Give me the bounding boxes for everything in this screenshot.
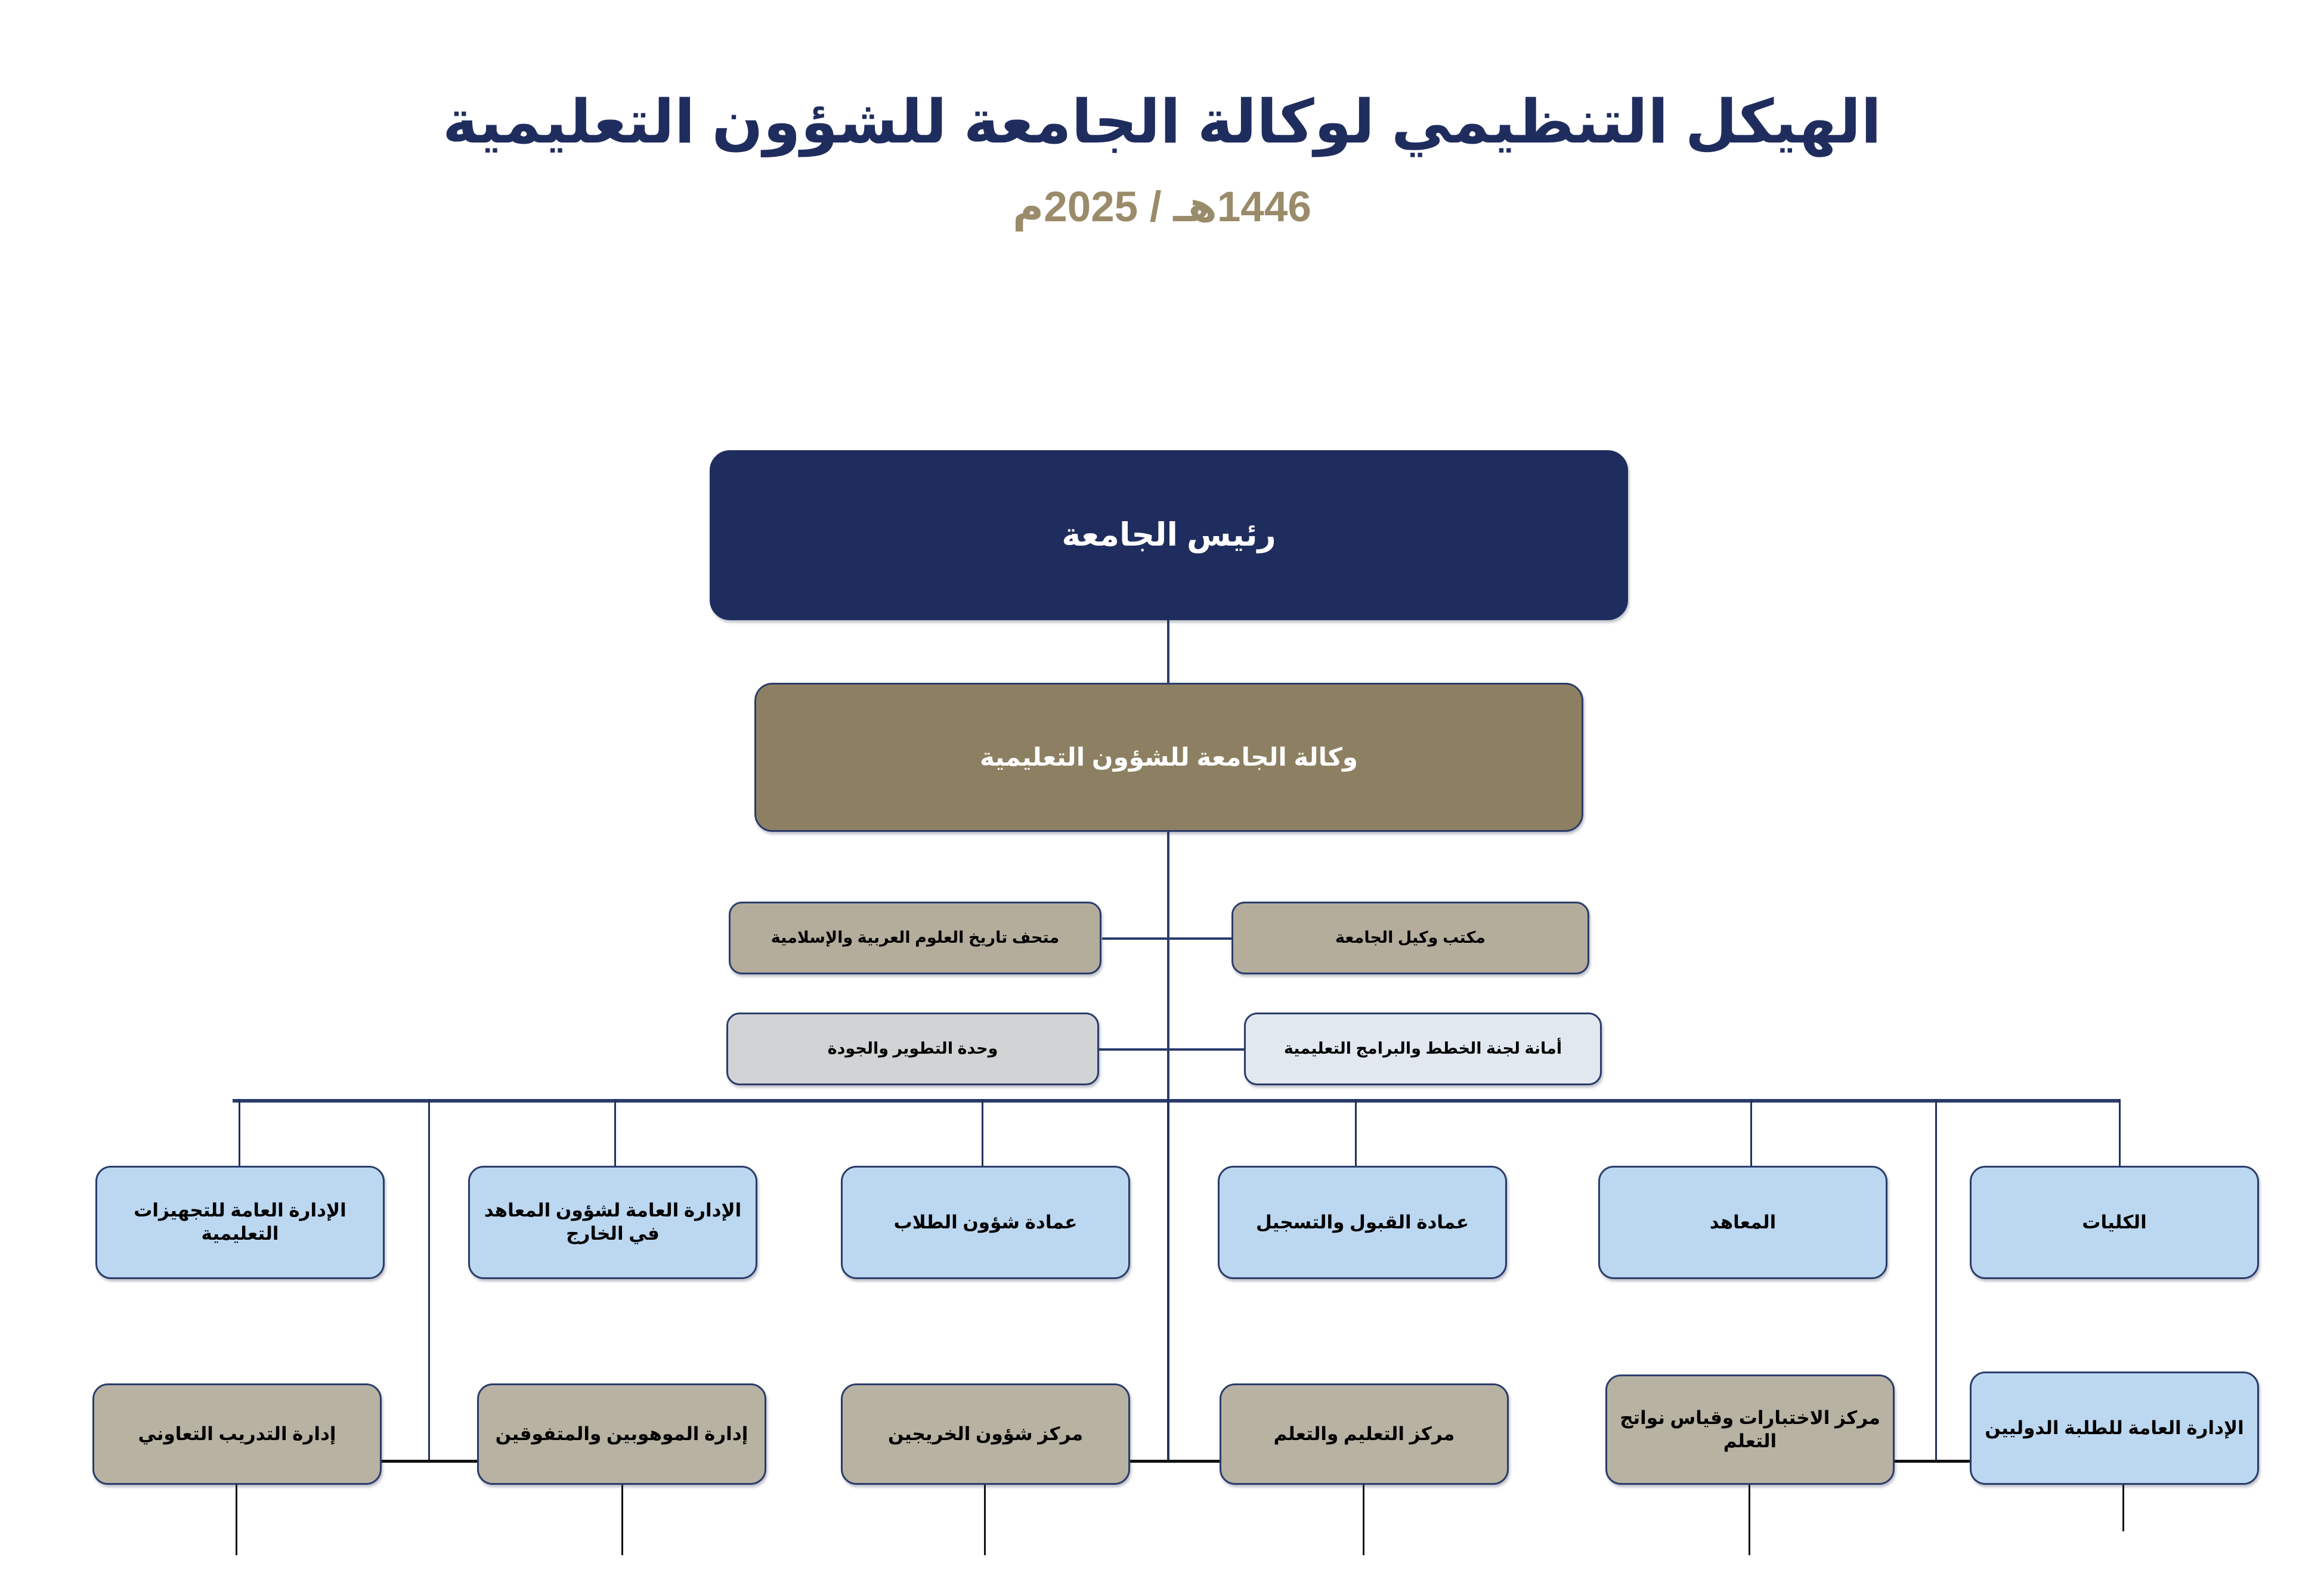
node-development-quality-unit[interactable]: وحدة التطوير والجودة	[726, 1013, 1099, 1085]
node-label: عمادة شؤون الطلاب	[894, 1211, 1078, 1234]
node-label: الكليات	[2082, 1211, 2146, 1234]
node-teaching-learning-center[interactable]: مركز التعليم والتعلم	[1220, 1383, 1509, 1485]
node-label: أمانة لجنة الخطط والبرامج التعليمية	[1284, 1039, 1562, 1059]
node-label: رئيس الجامعة	[1062, 515, 1276, 556]
org-chart-canvas: رئيس الجامعة وكالة الجامعة للشؤون التعلي…	[0, 0, 2324, 1582]
connector-agency-spine	[1167, 832, 1169, 1100]
node-label: مركز الاختبارات وقياس نواتج التعلم	[1616, 1407, 1884, 1453]
node-gifted-talented-administration[interactable]: إدارة الموهوبين والمتفوقين	[477, 1383, 766, 1485]
node-science-history-museum[interactable]: متحف تاريخ العلوم العربية والإسلامية	[729, 902, 1101, 974]
node-label: مركز التعليم والتعلم	[1274, 1423, 1455, 1446]
node-colleges[interactable]: الكليات	[1970, 1166, 2259, 1279]
node-label: عمادة القبول والتسجيل	[1256, 1211, 1469, 1234]
node-label: إدارة الموهوبين والمتفوقين	[496, 1423, 748, 1446]
node-student-affairs-deanship[interactable]: عمادة شؤون الطلاب	[841, 1166, 1130, 1279]
node-label: إدارة التدريب التعاوني	[138, 1423, 336, 1446]
node-overseas-institutes-administration[interactable]: الإدارة العامة لشؤون المعاهد في الخارج	[468, 1166, 757, 1279]
node-label: وحدة التطوير والجودة	[828, 1039, 998, 1059]
connector-drop-branch-center	[1167, 1099, 1169, 1461]
node-label: المعاهد	[1710, 1211, 1777, 1234]
connector-department-bar	[233, 1099, 2120, 1103]
node-international-students-administration[interactable]: الإدارة العامة للطلبة الدوليين	[1970, 1372, 2259, 1485]
connector-drop-branch-left	[428, 1099, 430, 1461]
node-label: الإدارة العامة للتجهيزات التعليمية	[106, 1199, 375, 1246]
connector-staff-museum-left	[1102, 937, 1169, 940]
node-label: الإدارة العامة لشؤون المعاهد في الخارج	[478, 1199, 747, 1246]
connector-staff-quality-left	[1098, 1048, 1169, 1051]
node-institutes[interactable]: المعاهد	[1598, 1166, 1887, 1279]
connector-drop-colleges	[2119, 1099, 2121, 1168]
node-label: مكتب وكيل الجامعة	[1335, 928, 1486, 948]
node-label: متحف تاريخ العلوم العربية والإسلامية	[771, 928, 1059, 948]
connector-staff-office-right	[1169, 937, 1235, 940]
node-university-president[interactable]: رئيس الجامعة	[710, 450, 1628, 620]
node-agency-educational-affairs[interactable]: وكالة الجامعة للشؤون التعليمية	[754, 683, 1583, 832]
node-cooperative-training-administration[interactable]: إدارة التدريب التعاوني	[92, 1383, 382, 1485]
node-plans-programs-secretariat[interactable]: أمانة لجنة الخطط والبرامج التعليمية	[1244, 1013, 1602, 1085]
connector-staff-secretariat-right	[1169, 1048, 1246, 1051]
node-exams-learning-outcomes-center[interactable]: مركز الاختبارات وقياس نواتج التعلم	[1605, 1374, 1895, 1485]
node-label: مركز شؤون الخريجين	[888, 1423, 1083, 1446]
connector-root-to-agency	[1167, 620, 1169, 683]
node-graduates-affairs-center[interactable]: مركز شؤون الخريجين	[841, 1383, 1130, 1485]
node-label: وكالة الجامعة للشؤون التعليمية	[980, 742, 1358, 773]
connector-drop-branch-right	[1935, 1099, 1937, 1461]
node-label: الإدارة العامة للطلبة الدوليين	[1985, 1417, 2244, 1440]
node-admission-registration-deanship[interactable]: عمادة القبول والتسجيل	[1218, 1166, 1507, 1279]
node-educational-equipment-administration[interactable]: الإدارة العامة للتجهيزات التعليمية	[95, 1166, 385, 1279]
node-vice-president-office[interactable]: مكتب وكيل الجامعة	[1231, 902, 1589, 974]
